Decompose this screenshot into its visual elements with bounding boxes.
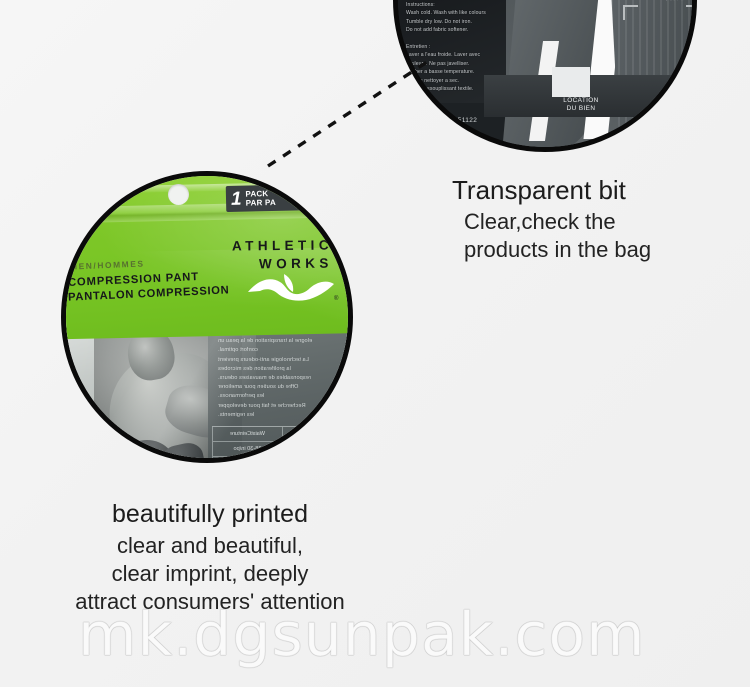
bracket-corner-left-icon [623, 5, 638, 20]
caption-title: beautifully printed [32, 498, 388, 530]
site-watermark: mk.dgsunpak.com [78, 600, 646, 670]
callout-circle-beautifully-printed: Le systeme d'evacuation de l'humidite el… [61, 171, 353, 463]
table-cell: 97-102 [282, 457, 352, 463]
registered-trademark-mark: ® [334, 296, 338, 302]
table-cell: 71-76 cm [212, 457, 282, 463]
athletic-works-logo-icon [244, 272, 336, 306]
pack-count-badge: 1 PACK PAR PA [226, 184, 322, 212]
callout-circle-transparent-bit: AW2613 Instructions: Wash cold. Wash wit… [393, 0, 697, 152]
euro-hang-hole [168, 184, 189, 205]
table-cell: Hip [282, 427, 352, 441]
back-panel-text: Le systeme d'evacuation de l'humidite el… [218, 328, 344, 420]
location-text: LOCATION DU BIEN [546, 97, 616, 113]
green-bag-photo: Le systeme d'evacuation de l'humidite el… [66, 176, 348, 458]
caption-beautifully-printed: beautifully printed clear and beautiful,… [32, 498, 388, 616]
table-row: WaistCeinture Hip [212, 427, 352, 442]
caption-transparent-bit: Transparent bit Clear,check the products… [452, 174, 742, 264]
size-table: WaistCeinture Hip 28-30 in/po 38-40 71-7… [212, 426, 352, 463]
table-row: 28-30 in/po 38-40 [212, 442, 352, 457]
table-cell: 38-40 [282, 442, 352, 456]
product-feature-image: AW2613 Instructions: Wash cold. Wash wit… [0, 0, 750, 687]
caption-body: Clear,check the products in the bag [452, 208, 742, 264]
brand-name-line2: WORKS [259, 256, 333, 272]
table-row: 71-76 cm 97-102 [212, 457, 352, 463]
caption-title: Transparent bit [452, 174, 742, 206]
pack-count-number: 1 [231, 189, 242, 208]
brand-name-line1: ATHLETIC [232, 237, 333, 253]
transparent-bag-photo: AW2613 Instructions: Wash cold. Wash wit… [398, 0, 692, 147]
bag-bottom-white-tab [552, 67, 590, 97]
ca-number-text: CA 51122 [446, 117, 477, 124]
table-cell: WaistCeinture [212, 427, 282, 441]
pack-count-label: PACK PAR PA [245, 189, 276, 208]
table-cell: 28-30 in/po [212, 442, 282, 456]
bracket-corner-right-icon [686, 5, 697, 20]
